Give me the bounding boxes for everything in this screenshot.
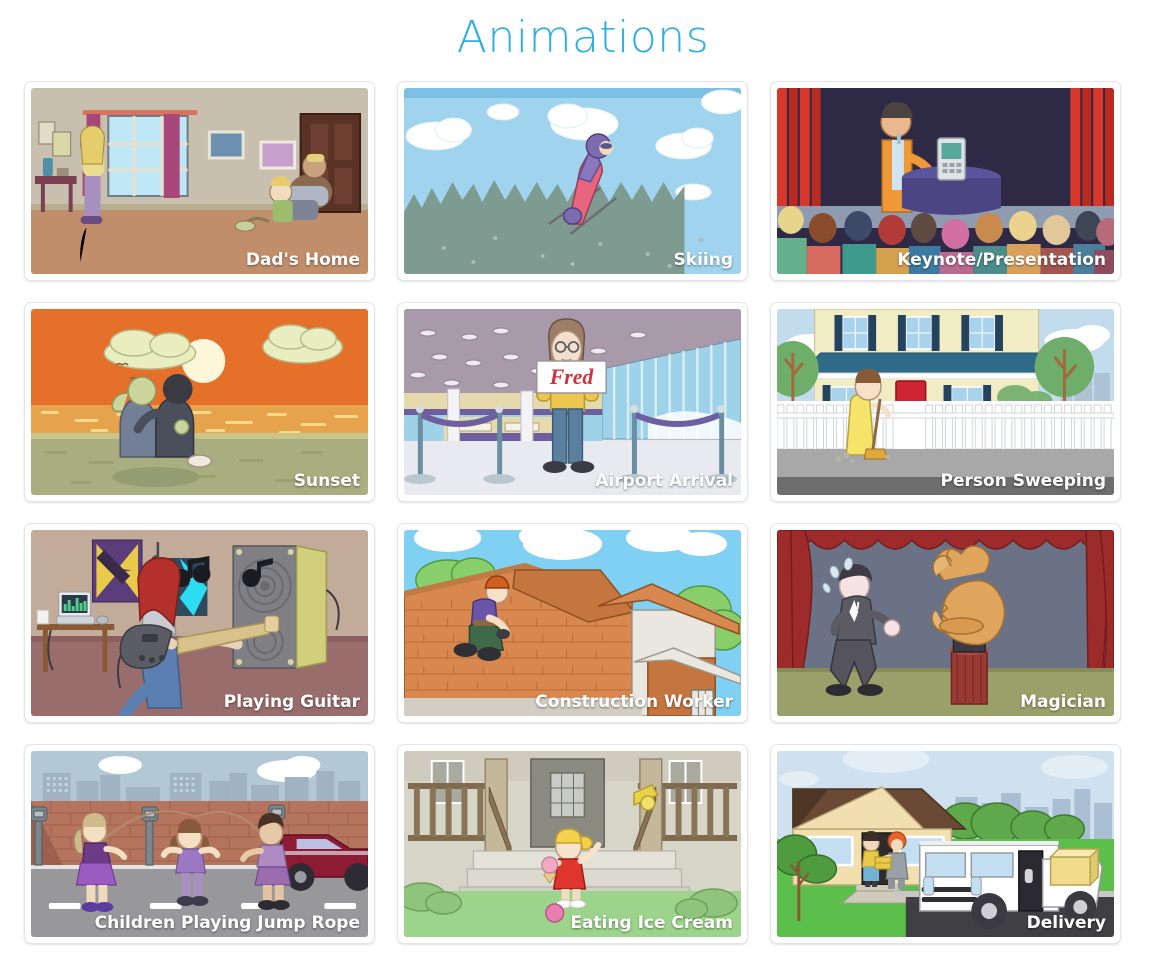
upper-windows xyxy=(834,315,1003,351)
thumbnail-dads-home: Dad's Home xyxy=(31,88,368,274)
animation-card-airport-arrival[interactable]: Fred Airport Arrival xyxy=(397,302,748,502)
scene-stage-presenter-audience xyxy=(777,88,1114,274)
scene-delivery-truck-at-house xyxy=(777,751,1114,937)
animation-card-skiing[interactable]: Skiing xyxy=(397,81,748,281)
scene-living-room-reunion xyxy=(31,88,368,274)
scene-children-jumping-rope-street xyxy=(31,751,368,937)
animation-card-delivery[interactable]: Delivery xyxy=(770,744,1121,944)
animation-card-eating-ice-cream[interactable]: Eating Ice Cream xyxy=(397,744,748,944)
animation-card-construction[interactable]: Construction Worker xyxy=(397,523,748,723)
thumbnail-delivery: Delivery xyxy=(777,751,1114,937)
scene-roofer-on-shingle-roof xyxy=(404,530,741,716)
page-title: Animations xyxy=(0,0,1166,81)
thumbnail-keynote: Keynote/Presentation xyxy=(777,88,1114,274)
animation-card-playing-guitar[interactable]: Playing Guitar xyxy=(24,523,375,723)
package-box xyxy=(1051,849,1099,885)
scene-ski-jumper-over-forest xyxy=(404,88,741,274)
thumbnail-magician: Magician xyxy=(777,530,1114,716)
prop-device xyxy=(938,138,966,180)
thumbnail-playing-guitar: Playing Guitar xyxy=(31,530,368,716)
name-sign: Fred xyxy=(537,361,606,393)
thumbnail-jump-rope: Children Playing Jump Rope xyxy=(31,751,368,937)
animation-card-keynote[interactable]: Keynote/Presentation xyxy=(770,81,1121,281)
animation-card-jump-rope[interactable]: Children Playing Jump Rope xyxy=(24,744,375,944)
animation-card-magician[interactable]: Magician xyxy=(770,523,1121,723)
prop-speaker xyxy=(233,546,339,668)
poster-starburst xyxy=(92,540,142,602)
scene-couple-watching-sunset xyxy=(31,309,368,495)
animation-card-dads-home[interactable]: Dad's Home xyxy=(24,81,375,281)
thumbnail-airport-arrival: Fred Airport Arrival xyxy=(404,309,741,495)
scene-greeter-with-name-sign: Fred xyxy=(404,309,741,495)
scene-guitarist-in-studio xyxy=(31,530,368,716)
thumbnail-skiing: Skiing xyxy=(404,88,741,274)
svg-text:Fred: Fred xyxy=(549,364,595,389)
scene-woman-sweeping-porch xyxy=(777,309,1114,495)
animations-gallery: Dad's Home xyxy=(0,81,1166,944)
scene-girl-on-porch-steps xyxy=(404,751,741,937)
thumbnail-sunset: Sunset xyxy=(31,309,368,495)
scene-magician-lion-from-hat xyxy=(777,530,1114,716)
thumbnail-eating-ice-cream: Eating Ice Cream xyxy=(404,751,741,937)
thumbnail-person-sweeping: Person Sweeping xyxy=(777,309,1114,495)
animation-card-person-sweeping[interactable]: Person Sweeping xyxy=(770,302,1121,502)
animation-card-sunset[interactable]: Sunset xyxy=(24,302,375,502)
thumbnail-construction: Construction Worker xyxy=(404,530,741,716)
